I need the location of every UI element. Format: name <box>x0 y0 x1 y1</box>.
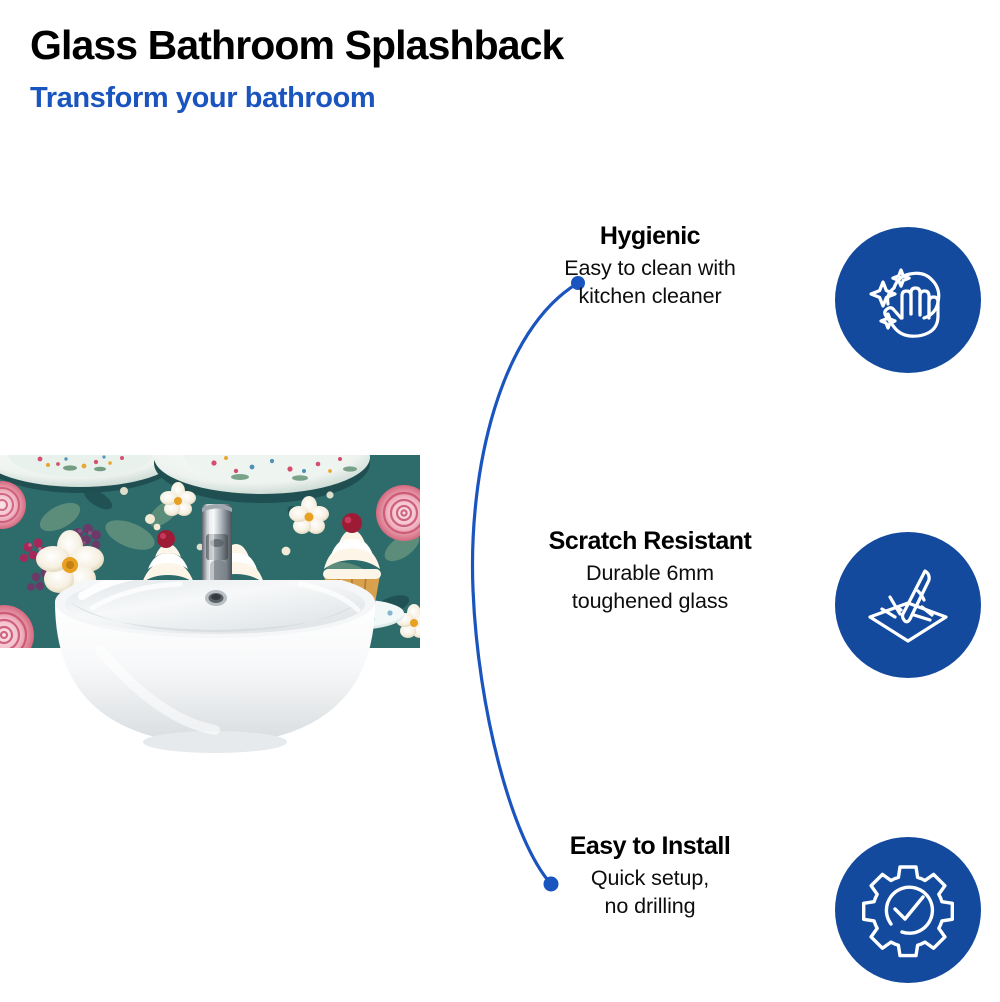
basin-sink <box>0 580 430 770</box>
feature-title: Easy to Install <box>520 832 780 861</box>
feature-description: Durable 6mm toughened glass <box>520 559 780 616</box>
page-title: Glass Bathroom Splashback <box>30 22 563 69</box>
feature-easy-to-install: Easy to Install Quick setup, no drilling <box>460 832 960 1002</box>
product-image <box>0 440 430 770</box>
feature-title: Hygienic <box>520 222 780 251</box>
feature-description: Easy to clean with kitchen cleaner <box>520 254 780 311</box>
feature-description-line: no drilling <box>520 892 780 921</box>
feature-description-line: kitchen cleaner <box>520 282 780 311</box>
feature-icon-badge[interactable] <box>835 227 981 373</box>
feature-description-line: Easy to clean with <box>520 254 780 283</box>
feature-text-block: Hygienic Easy to clean with kitchen clea… <box>520 222 780 311</box>
feature-text-block: Scratch Resistant Durable 6mm toughened … <box>520 527 780 616</box>
feature-hygienic: Hygienic Easy to clean with kitchen clea… <box>460 222 960 392</box>
page-subtitle: Transform your bathroom <box>30 82 375 115</box>
feature-description-line: Quick setup, <box>520 864 780 893</box>
feature-scratch-resistant: Scratch Resistant Durable 6mm toughened … <box>460 527 960 697</box>
feature-title: Scratch Resistant <box>520 527 780 556</box>
feature-icon-badge[interactable] <box>835 837 981 983</box>
feature-text-block: Easy to Install Quick setup, no drilling <box>520 832 780 921</box>
infographic-canvas: Glass Bathroom Splashback Transform your… <box>0 0 1000 1000</box>
feature-description-line: toughened glass <box>520 587 780 616</box>
gear-checkmark-icon <box>859 861 957 959</box>
feature-description: Quick setup, no drilling <box>520 864 780 921</box>
feature-description-line: Durable 6mm <box>520 559 780 588</box>
hand-wiping-sparkle-icon <box>860 252 956 348</box>
knife-scratch-surface-icon <box>860 557 956 653</box>
feature-icon-badge[interactable] <box>835 532 981 678</box>
